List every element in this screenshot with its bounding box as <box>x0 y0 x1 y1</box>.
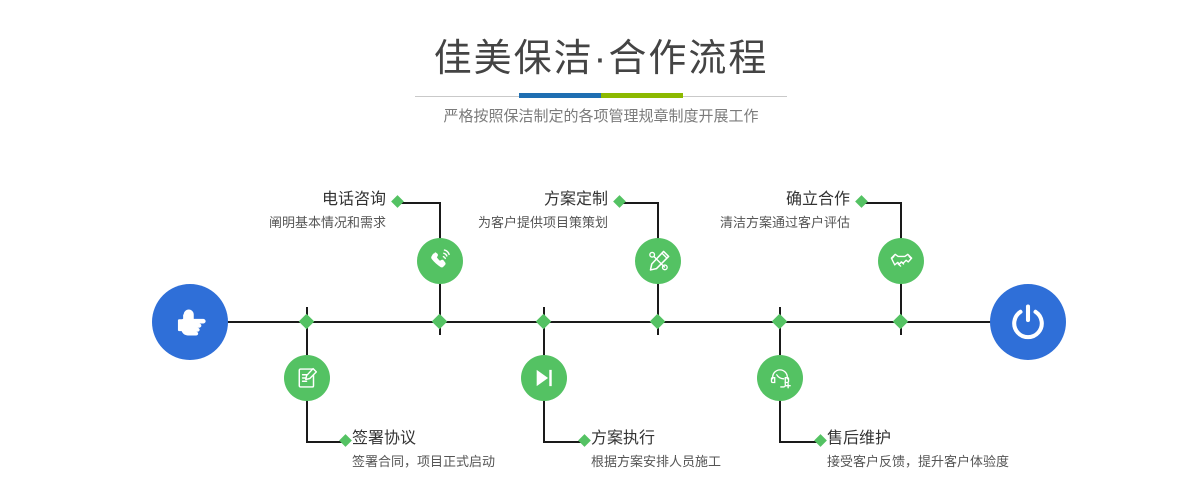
step-6-branch-riser <box>779 400 781 442</box>
step-1-branch-arm <box>398 202 440 204</box>
step-5-desc: 清洁方案通过客户评估 <box>632 213 850 233</box>
step-1-title: 电话咨询 <box>168 189 386 211</box>
step-3-icon-badge <box>635 238 681 284</box>
power-icon <box>1007 301 1049 343</box>
phone-ringing-icon <box>427 248 454 275</box>
step-4-desc: 根据方案安排人员施工 <box>591 452 831 472</box>
step-3-axis-marker <box>650 314 666 330</box>
process-flow-infographic: 佳美保洁·合作流程 严格按照保洁制定的各项管理规章制度开展工作 <box>0 0 1202 502</box>
page-title: 佳美保洁·合作流程 <box>0 36 1202 82</box>
title-divider <box>415 93 787 99</box>
customer-service-add-icon <box>767 365 793 391</box>
step-4-title: 方案执行 <box>591 428 831 450</box>
step-1-axis-marker <box>432 314 448 330</box>
step-6-axis-marker <box>772 314 788 330</box>
step-3-title: 方案定制 <box>390 189 608 211</box>
step-3-branch-marker <box>613 195 626 208</box>
step-6-label: 售后维护 接受客户反馈，提升客户体验度 <box>827 428 1077 472</box>
timeline-start-node <box>152 284 228 360</box>
step-2-desc: 签署合同，项目正式启动 <box>352 452 592 472</box>
step-2-icon-badge <box>284 355 330 401</box>
step-2-branch-marker <box>339 434 352 447</box>
step-6-icon-badge <box>757 355 803 401</box>
step-5-label: 确立合作 清洁方案通过客户评估 <box>632 189 850 233</box>
step-4-axis-marker <box>536 314 552 330</box>
step-2-axis-marker <box>299 314 315 330</box>
step-2-label: 签署协议 签署合同，项目正式启动 <box>352 428 592 472</box>
step-6-title: 售后维护 <box>827 428 1077 450</box>
timeline-end-node <box>990 284 1066 360</box>
step-5-axis-marker <box>893 314 909 330</box>
step-3-label: 方案定制 为客户提供项目策策划 <box>390 189 608 233</box>
step-5-title: 确立合作 <box>632 189 850 211</box>
divider-green-segment <box>601 93 683 98</box>
handshake-icon <box>888 248 915 275</box>
step-1-label: 电话咨询 阐明基本情况和需求 <box>168 189 386 233</box>
step-4-branch-riser <box>543 400 545 442</box>
step-2-branch-riser <box>306 400 308 442</box>
step-5-icon-badge <box>878 238 924 284</box>
step-1-desc: 阐明基本情况和需求 <box>168 213 386 233</box>
pencil-design-icon <box>645 248 672 275</box>
step-4-label: 方案执行 根据方案安排人员施工 <box>591 428 831 472</box>
divider-blue-segment <box>519 93 601 98</box>
step-3-desc: 为客户提供项目策策划 <box>390 213 608 233</box>
step-3-branch-arm <box>620 202 658 204</box>
page-subtitle: 严格按照保洁制定的各项管理规章制度开展工作 <box>0 105 1202 129</box>
step-1-icon-badge <box>417 238 463 284</box>
step-2-title: 签署协议 <box>352 428 592 450</box>
document-edit-icon <box>294 365 320 391</box>
hand-point-right-icon <box>170 302 210 342</box>
play-next-icon <box>531 365 557 391</box>
step-4-icon-badge <box>521 355 567 401</box>
step-5-branch-marker <box>855 195 868 208</box>
step-6-desc: 接受客户反馈，提升客户体验度 <box>827 452 1077 472</box>
step-5-branch-arm <box>862 202 901 204</box>
